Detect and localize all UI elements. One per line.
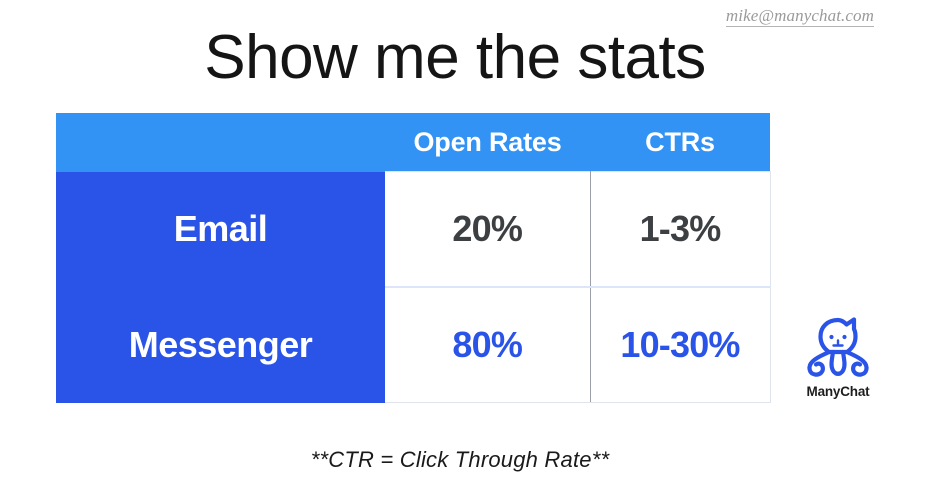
table-row: Messenger 80% 10-30% bbox=[56, 287, 770, 403]
table-header-blank bbox=[56, 113, 385, 172]
row-label-email: Email bbox=[56, 172, 385, 288]
manychat-octopus-icon bbox=[802, 310, 874, 382]
cell-messenger-ctr: 10-30% bbox=[590, 287, 770, 403]
cell-email-ctr: 1-3% bbox=[590, 172, 770, 288]
octopus-left-eye-icon bbox=[829, 335, 833, 339]
table-row: Email 20% 1-3% bbox=[56, 172, 770, 288]
footnote: **CTR = Click Through Rate** bbox=[0, 447, 920, 473]
octopus-nose-icon bbox=[834, 341, 843, 346]
manychat-logo: ManyChat bbox=[790, 310, 886, 399]
table-header-ctrs: CTRs bbox=[590, 113, 770, 172]
table-header-open-rates: Open Rates bbox=[385, 113, 590, 172]
cell-email-open-rate: 20% bbox=[385, 172, 590, 288]
octopus-right-eye-icon bbox=[842, 335, 846, 339]
page-title: Show me the stats bbox=[0, 22, 910, 94]
stats-table: Open Rates CTRs Email 20% 1-3% Messenger… bbox=[56, 113, 771, 403]
table-header-row: Open Rates CTRs bbox=[56, 113, 770, 172]
cell-messenger-open-rate: 80% bbox=[385, 287, 590, 403]
manychat-wordmark: ManyChat bbox=[790, 384, 886, 399]
row-label-messenger: Messenger bbox=[56, 287, 385, 403]
